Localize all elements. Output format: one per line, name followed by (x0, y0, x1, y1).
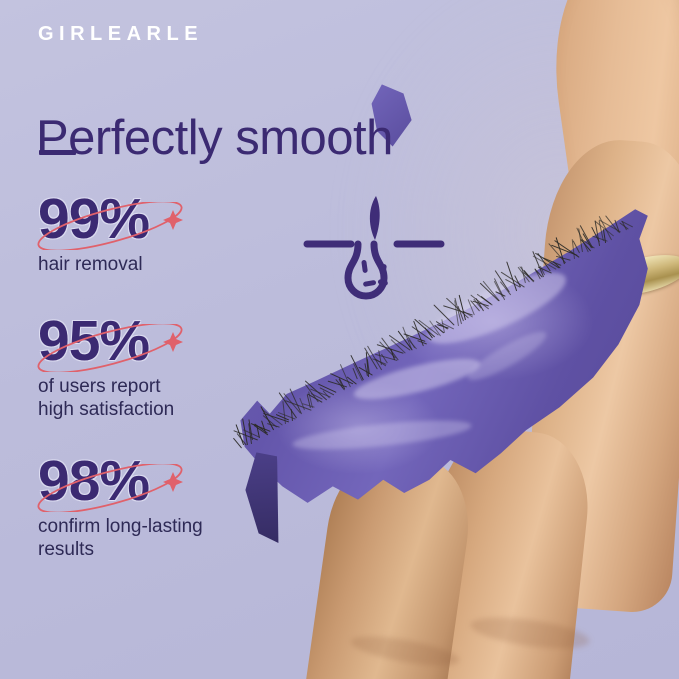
stat-value: 95% (38, 312, 149, 372)
stat-label: of users report high satisfaction (38, 375, 174, 421)
stat-label: confirm long-lasting results (38, 515, 203, 561)
stat-value-wrap: 99% (38, 190, 149, 250)
hair-follicle-icon (303, 188, 445, 300)
stat-block: 95% of users report high satisfaction (38, 312, 174, 421)
promo-image: GIRLEARLE Perfectly smooth 99% (0, 0, 679, 679)
extracted-hairs (232, 196, 662, 456)
hair (593, 235, 609, 241)
stat-value-wrap: 98% (38, 452, 149, 512)
stat-block: 99% hair removal (38, 190, 149, 276)
page-title: Perfectly smooth (36, 110, 393, 166)
stat-value: 99% (38, 190, 149, 250)
stat-value-wrap: 95% (38, 312, 149, 372)
stat-block: 98% confirm long-lasting results (38, 452, 203, 561)
brand-name: GIRLEARLE (38, 23, 203, 46)
stat-label: hair removal (38, 253, 149, 276)
title-underline-rule (39, 150, 76, 155)
stat-value: 98% (38, 452, 149, 512)
